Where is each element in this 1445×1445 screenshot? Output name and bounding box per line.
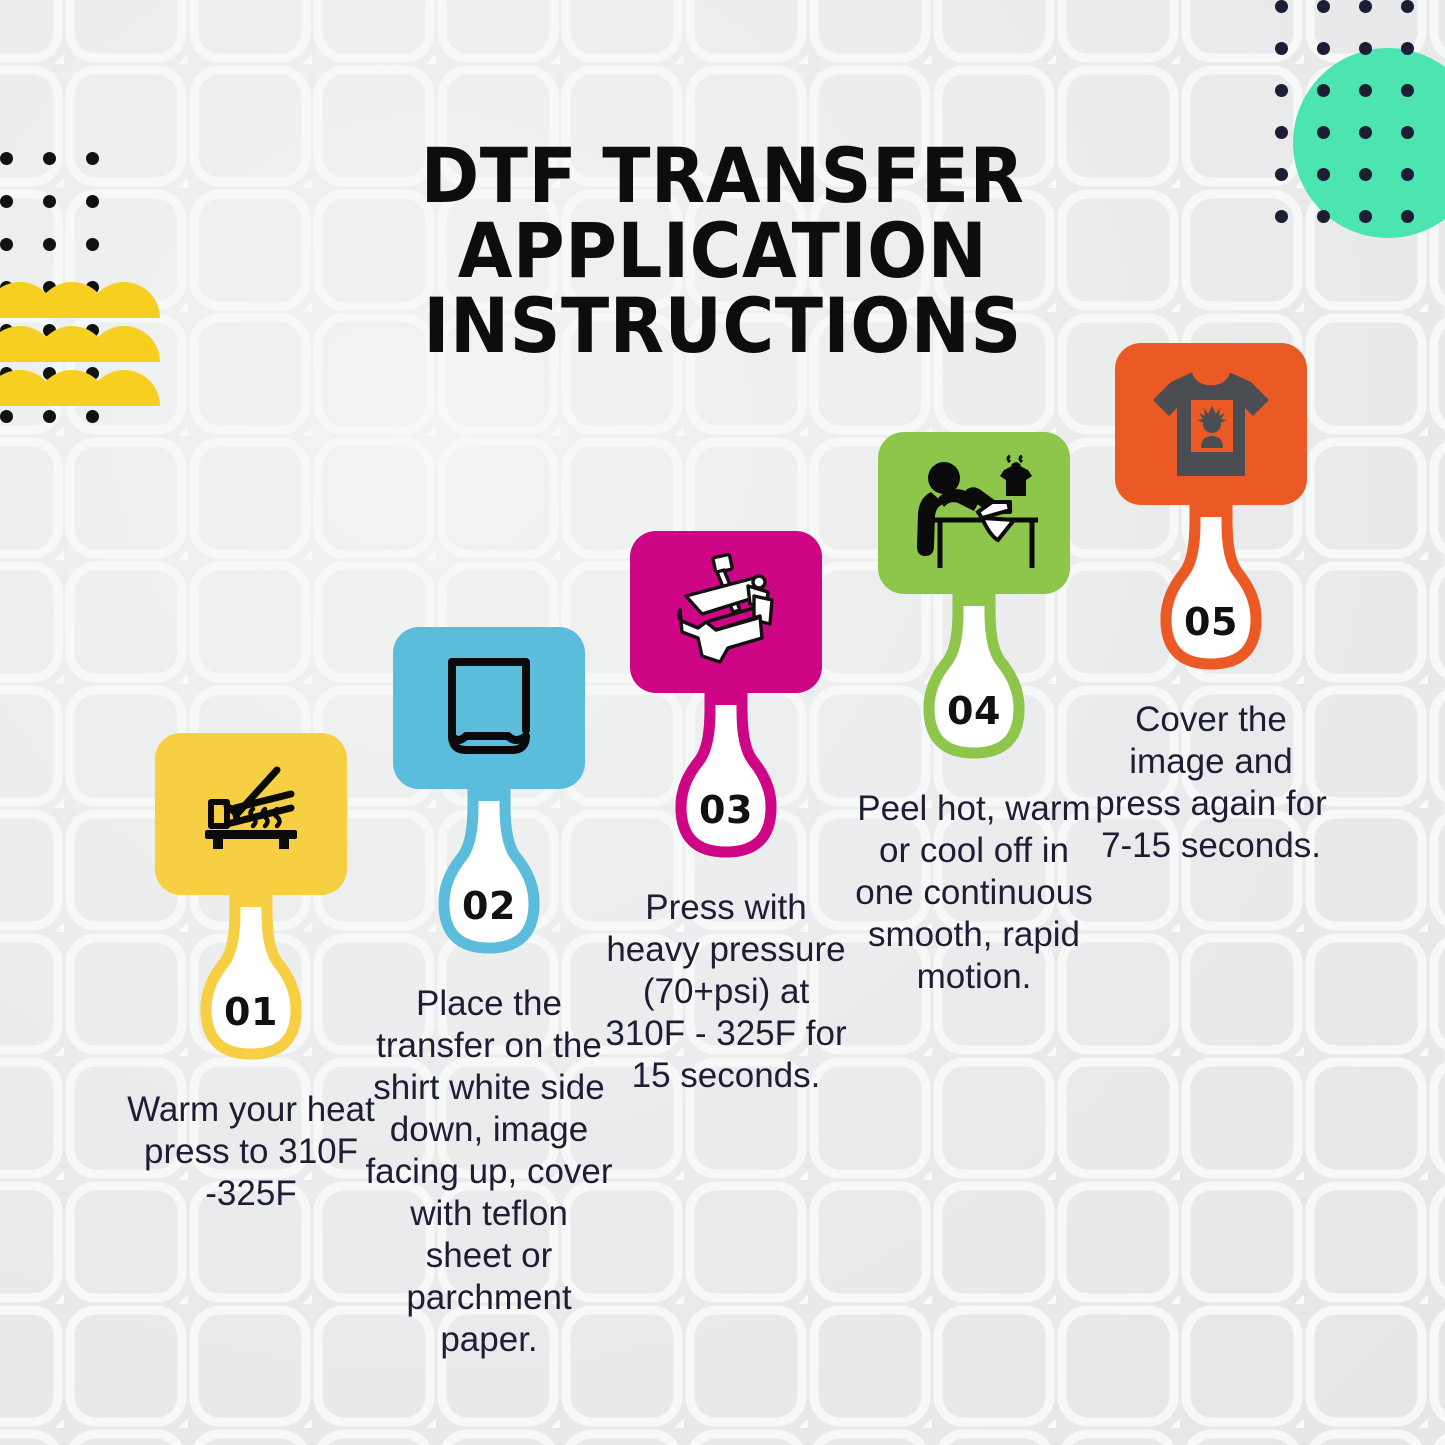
step-number-03: 03 [661,791,791,829]
step-number-01: 01 [186,993,316,1031]
printed-tshirt-icon [1147,366,1275,482]
step-05: 05Cover the image and press again for 7-… [1085,343,1337,867]
step-caption-02: Place the transfer on the shirt white si… [364,983,614,1361]
step-number-05: 05 [1146,603,1276,641]
step-pin-wrapper-04: 04 [909,588,1039,774]
step-pin [1146,499,1276,685]
step-card-01[interactable] [155,733,347,895]
step-pin-wrapper-02: 02 [424,783,554,969]
infographic-canvas: DTF TRANSFER APPLICATION INSTRUCTIONS [0,0,1445,1445]
step-02: 02Place the transfer on the shirt white … [363,627,615,1361]
step-caption-03: Press with heavy pressure (70+psi) at 31… [601,887,851,1097]
step-pin [909,588,1039,774]
step-04: 04Peel hot, warm or cool off in one cont… [848,432,1100,998]
step-caption-04: Peel hot, warm or cool off in one contin… [849,788,1099,998]
step-caption-01: Warm your heat press to 310F -325F [126,1089,376,1215]
step-card-02[interactable] [393,627,585,789]
peel-transfer-icon [904,454,1044,572]
heat-press-icon [191,764,311,864]
step-card-04[interactable] [878,432,1070,594]
heat-press-machine-icon [662,552,790,672]
steps-container: 01Warm your heat press to 310F -325F 02P… [0,0,1445,1445]
step-pin [186,889,316,1075]
step-number-02: 02 [424,887,554,925]
step-card-05[interactable] [1115,343,1307,505]
step-pin-wrapper-03: 03 [661,687,791,873]
step-01: 01Warm your heat press to 310F -325F [125,733,377,1215]
step-pin-wrapper-05: 05 [1146,499,1276,685]
step-number-04: 04 [909,692,1039,730]
step-pin [424,783,554,969]
step-pin-wrapper-01: 01 [186,889,316,1075]
step-caption-05: Cover the image and press again for 7-15… [1086,699,1336,867]
step-pin [661,687,791,873]
step-card-03[interactable] [630,531,822,693]
transfer-sheet-icon [434,654,544,762]
step-03: 03Press with heavy pressure (70+psi) at … [600,531,852,1097]
